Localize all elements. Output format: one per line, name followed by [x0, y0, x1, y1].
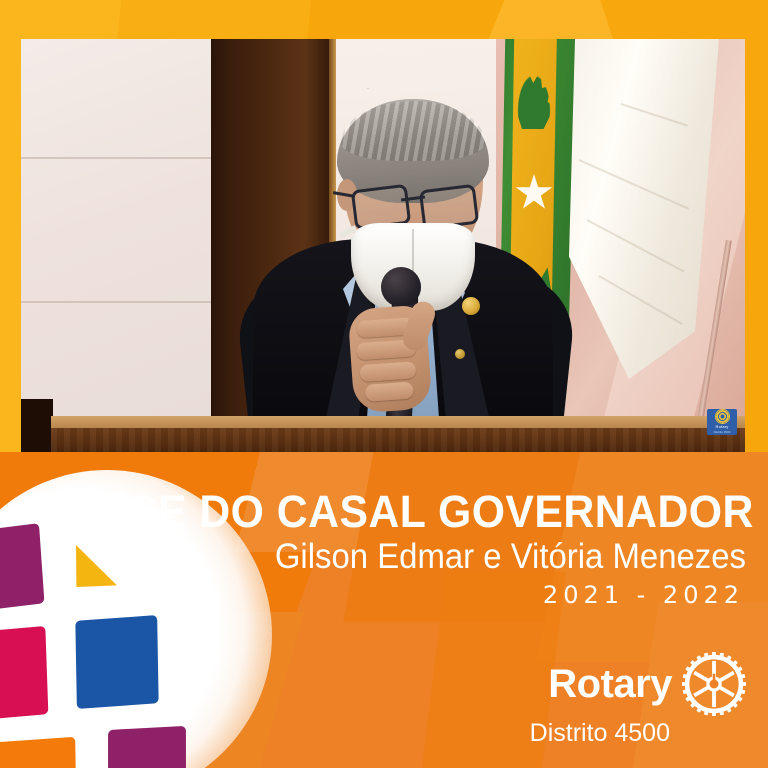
photo-podium-body	[51, 428, 745, 452]
watermark-brand: Rotary	[716, 424, 729, 429]
rotary-brand-lockup: Rotary	[530, 652, 746, 748]
tile-orange-bottom	[0, 737, 77, 768]
title-block: POSSE DO CASAL GOVERNADOR Gilson Edmar e…	[0, 488, 746, 612]
rotary-district-label: Distrito 4500	[530, 718, 746, 748]
photo-podium-top	[51, 416, 745, 428]
rotary-gear-wheel-icon	[716, 410, 729, 423]
tile-magenta-mid	[0, 626, 48, 722]
page-title: POSSE DO CASAL GOVERNADOR	[37, 488, 746, 536]
watermark-district: Distrito 4500	[714, 430, 731, 434]
photo-watermark-badge: Rotary Distrito 4500	[707, 409, 737, 435]
photo-podium-shadow	[21, 399, 53, 452]
event-poster: Rotary Distrito 4500 POSSE DO CASAL GOVE…	[0, 0, 768, 768]
page-subtitle: Gilson Edmar e Vitória Menezes	[45, 536, 746, 578]
photo-speaker-glasses-icon	[351, 187, 477, 227]
event-photo: Rotary Distrito 4500	[21, 39, 745, 452]
photo-lapel-pin-small	[455, 349, 465, 359]
photo-microphone-head	[381, 267, 421, 307]
year-range-label: 2021 - 2022	[0, 578, 746, 612]
photo-rotary-lapel-pin	[462, 297, 480, 315]
rotary-gear-wheel-icon	[682, 652, 746, 716]
tile-purple-bottom	[108, 726, 186, 768]
rotary-wordmark: Rotary	[548, 662, 672, 706]
photo-wall-left	[21, 39, 211, 452]
tile-blue-mid	[75, 615, 158, 709]
